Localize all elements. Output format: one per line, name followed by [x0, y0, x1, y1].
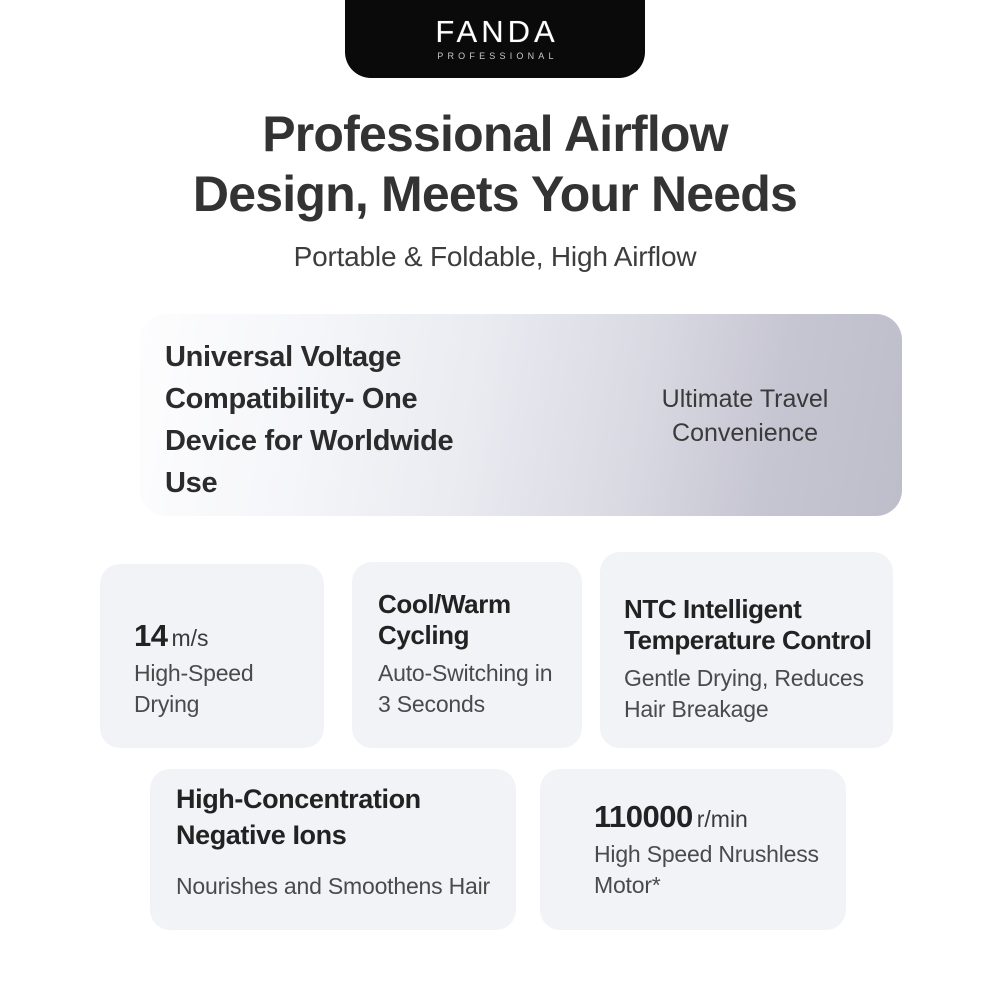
feature-card-content: 14m/s High-Speed Drying [134, 619, 304, 720]
page-headline: Professional Airflow Design, Meets Your … [0, 104, 990, 224]
stat-line: 110000r/min [594, 800, 830, 835]
feature-card-content: Cool/Warm Cycling Auto-Switching in 3 Se… [378, 589, 568, 720]
feature-card-description: Gentle Drying, Reduces Hair Breakage [624, 663, 881, 725]
voltage-banner: Universal Voltage Compatibility- One Dev… [140, 314, 902, 516]
stat-value: 14 [134, 618, 167, 653]
promo-page: FANDA PROFESSIONAL Professional Airflow … [0, 0, 990, 990]
feature-card-cycling: Cool/Warm Cycling Auto-Switching in 3 Se… [352, 562, 582, 748]
headline-line-2: Design, Meets Your Needs [0, 164, 990, 224]
stat-unit: r/min [697, 806, 748, 832]
feature-card-ions: High-Concentration Negative Ions Nourish… [150, 769, 516, 930]
banner-primary-text: Universal Voltage Compatibility- One Dev… [165, 336, 495, 504]
stat-line: 14m/s [134, 619, 304, 654]
brand-tagline: PROFESSIONAL [432, 52, 557, 61]
feature-card-description: Auto-Switching in 3 Seconds [378, 658, 568, 720]
feature-card-speed: 14m/s High-Speed Drying [100, 564, 324, 748]
brand-logo-tab: FANDA PROFESSIONAL [345, 0, 645, 78]
stat-unit: m/s [171, 625, 208, 651]
feature-card-content: 110000r/min High Speed Nrushless Motor* [594, 800, 830, 901]
feature-card-title: Cool/Warm Cycling [378, 589, 568, 651]
feature-card-content: NTC Intelligent Temperature Control Gent… [624, 594, 881, 725]
feature-card-content: High-Concentration Negative Ions Nourish… [176, 781, 500, 902]
headline-line-1: Professional Airflow [262, 106, 728, 162]
feature-card-title: NTC Intelligent Temperature Control [624, 594, 881, 656]
banner-secondary-text: Ultimate Travel Convenience [610, 382, 880, 450]
page-subtitle: Portable & Foldable, High Airflow [0, 241, 990, 273]
feature-card-description: High-Speed Drying [134, 658, 304, 720]
brand-name: FANDA [431, 16, 558, 47]
feature-card-description: Nourishes and Smoothens Hair [176, 871, 500, 902]
feature-card-description: High Speed Nrushless Motor* [594, 839, 830, 901]
feature-card-motor: 110000r/min High Speed Nrushless Motor* [540, 769, 846, 930]
feature-card-ntc: NTC Intelligent Temperature Control Gent… [600, 552, 893, 748]
feature-card-title: High-Concentration Negative Ions [176, 781, 500, 853]
stat-value: 110000 [594, 799, 693, 834]
